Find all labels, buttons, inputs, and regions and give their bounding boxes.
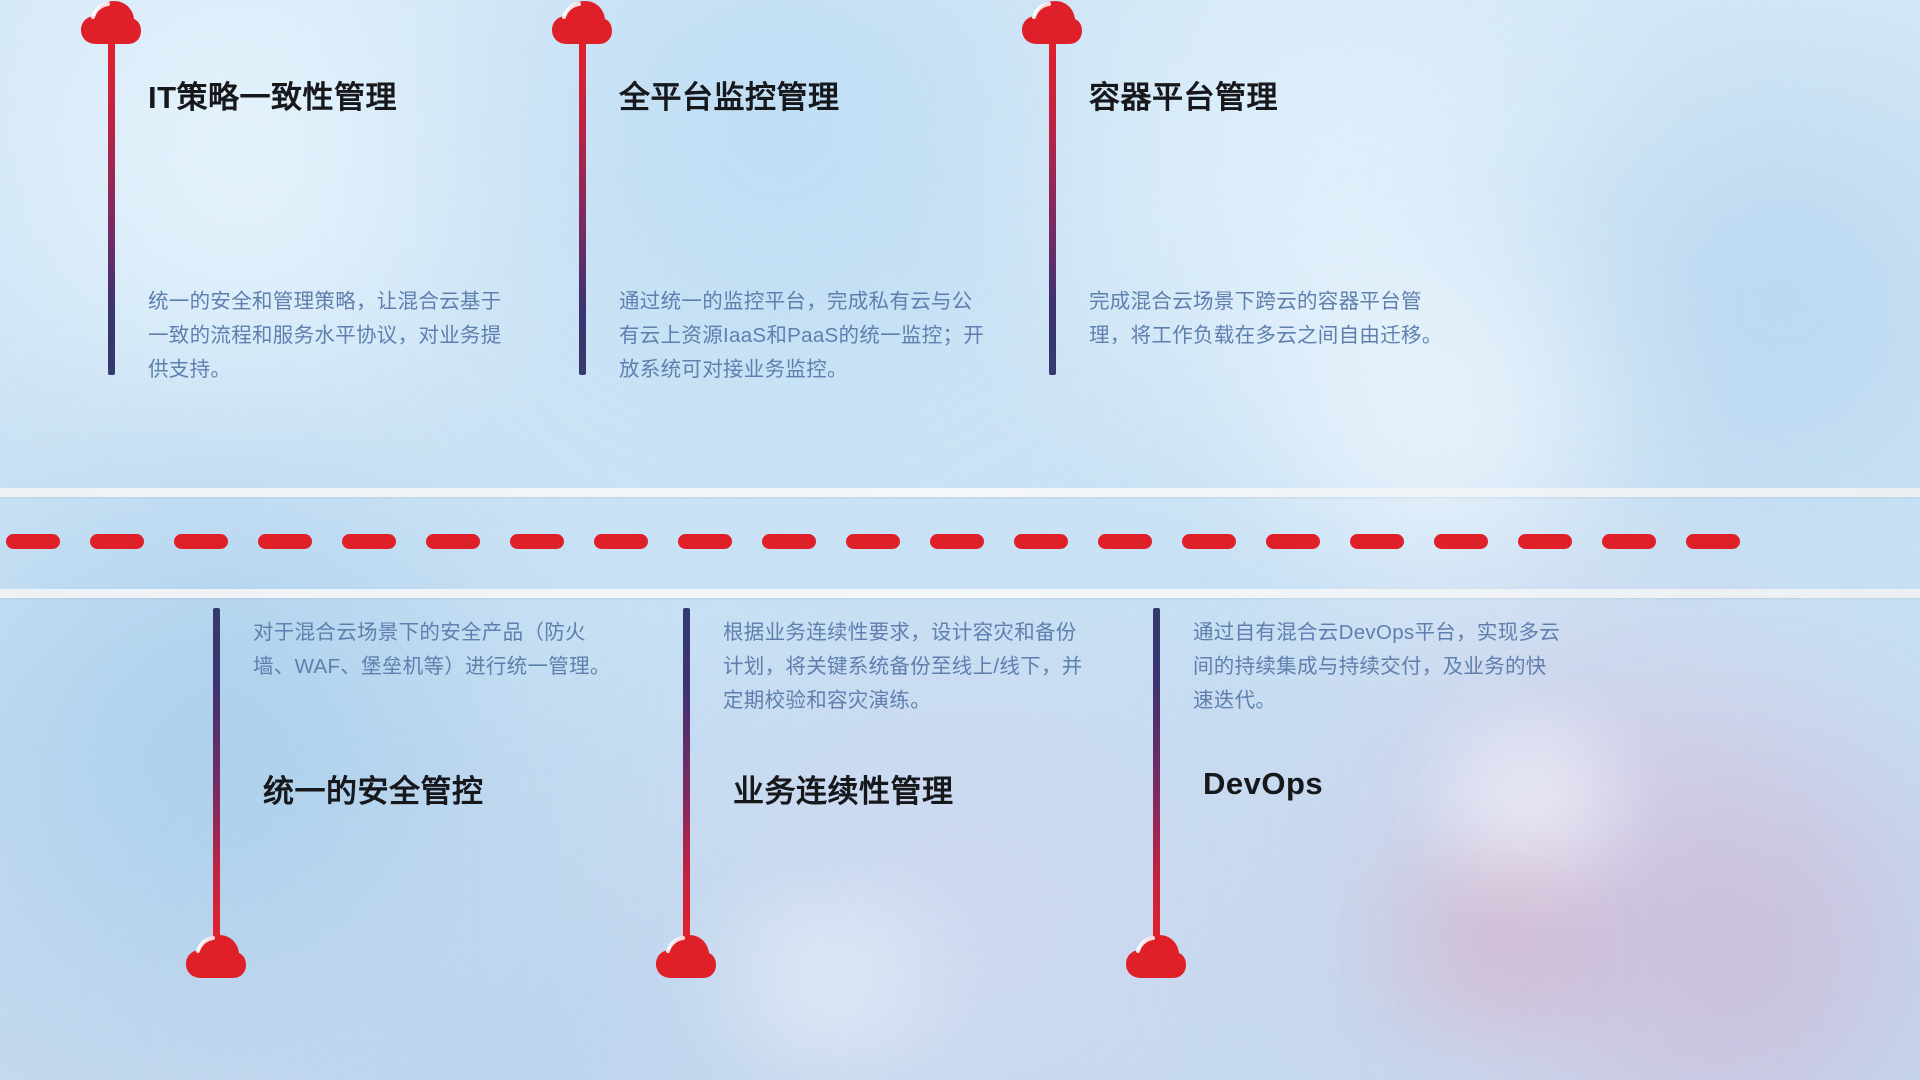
feature-description: 通过自有混合云DevOps平台，实现多云间的持续集成与持续交付，及业务的快速迭代… [1193,616,1563,718]
road-dash [90,534,144,549]
cloud-icon [655,934,717,980]
road-dash [1014,534,1068,549]
connector-stem [213,608,220,940]
road-dash [1350,534,1404,549]
cloud-icon [1021,0,1083,46]
road-dash [1182,534,1236,549]
feature-heading: DevOps [1203,766,1323,802]
road-dash [174,534,228,549]
marker-it-policy [80,0,210,46]
feature-description: 根据业务连续性要求，设计容灾和备份计划，将关键系统备份至线上/线下，并定期校验和… [723,616,1093,718]
top-feature-row: IT策略一致性管理 统一的安全和管理策略，让混合云基于一致的流程和服务水平协议，… [0,0,1920,488]
road-dash [6,534,60,549]
connector-stem [108,40,115,375]
feature-description: 统一的安全和管理策略，让混合云基于一致的流程和服务水平协议，对业务提供支持。 [148,285,508,387]
cloud-icon [1125,934,1187,980]
road-dash [258,534,312,549]
marker-container-platform [1021,0,1151,46]
road-dash [426,534,480,549]
feature-description: 完成混合云场景下跨云的容器平台管理，将工作负载在多云之间自由迁移。 [1089,285,1459,353]
road-dash [1686,534,1740,549]
road-divider [0,488,1920,598]
feature-heading: 业务连续性管理 [733,766,954,811]
road-dash [510,534,564,549]
cloud-icon [551,0,613,46]
feature-heading: IT策略一致性管理 [148,72,397,117]
road-dash [342,534,396,549]
road-dash [1098,534,1152,549]
road-band-bottom [0,589,1920,598]
connector-stem [579,40,586,375]
cloud-icon [80,0,142,46]
road-dash [1434,534,1488,549]
road-dash [678,534,732,549]
road-dash [930,534,984,549]
marker-monitoring [551,0,681,46]
road-dash [846,534,900,549]
road-dash [1602,534,1656,549]
road-band-top [0,488,1920,497]
feature-description: 通过统一的监控平台，完成私有云与公有云上资源IaaS和PaaS的统一监控；开放系… [619,285,989,387]
feature-heading: 全平台监控管理 [619,72,840,117]
feature-description: 对于混合云场景下的安全产品（防火墙、WAF、堡垒机等）进行统一管理。 [253,616,623,684]
road-dash [594,534,648,549]
road-dash-track [0,533,1920,549]
connector-stem [1049,40,1056,375]
road-dash [762,534,816,549]
connector-stem [1153,608,1160,940]
bottom-feature-row: 对于混合云场景下的安全产品（防火墙、WAF、堡垒机等）进行统一管理。 统一的安全… [0,598,1920,1080]
feature-heading: 容器平台管理 [1089,72,1278,117]
connector-stem [683,608,690,940]
road-dash [1518,534,1572,549]
feature-heading: 统一的安全管控 [263,766,484,811]
cloud-icon [185,934,247,980]
road-dash [1266,534,1320,549]
